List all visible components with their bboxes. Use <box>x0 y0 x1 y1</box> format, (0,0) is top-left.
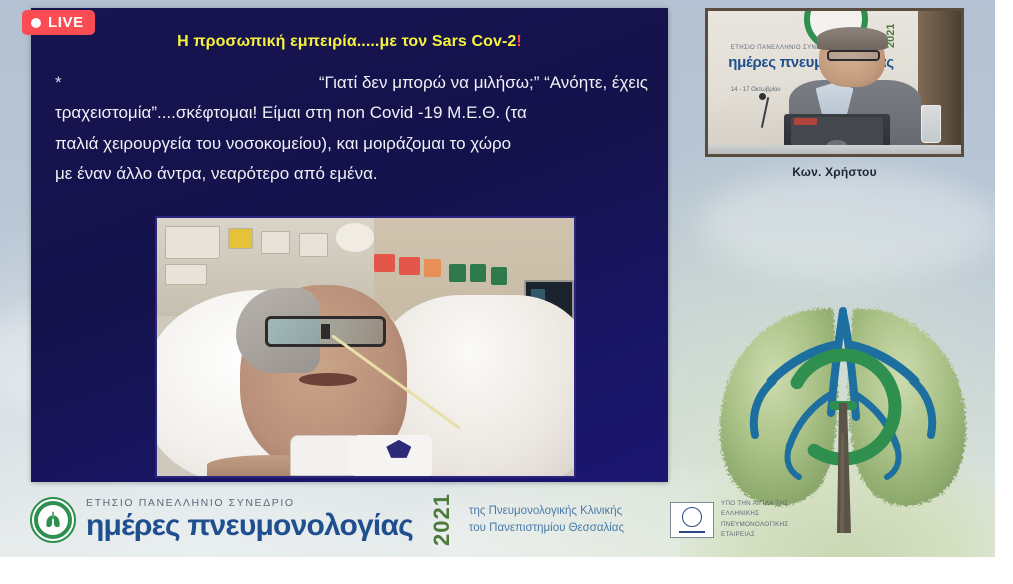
photo-outlet <box>374 254 395 272</box>
aegis-line-4: ΕΤΑΙΡΕΙΑΣ <box>721 530 789 540</box>
sponsor-banner: ΕΤΗΣΙΟ ΠΑΝΕΛΛΗΝΙΟ ΣΥΝΕΔΡΙΟ ημέρες πνευμο… <box>0 482 995 557</box>
webinar-viewport: LIVE Η προσωπική εμπειρία.....με τον Sar… <box>0 0 995 557</box>
photo-wall-panel <box>228 228 253 249</box>
live-status-badge: LIVE <box>22 10 95 35</box>
slide-title-text: Η προσωπική εμπειρία.....με τον Sars Cov… <box>177 33 516 50</box>
speaker-glasses <box>827 50 880 61</box>
slide-body-line-1: * “Γιατί δεν μπορώ να μιλήσω;” “Ανόητε, … <box>55 68 648 98</box>
photo-outlet <box>470 264 487 282</box>
right-margin <box>995 0 1013 584</box>
photo-outlet <box>449 264 466 282</box>
affiliation-line-2: του Πανεπιστημίου Θεσσαλίας <box>469 520 624 537</box>
podium-desk <box>708 145 961 154</box>
photo-wall-panel <box>299 233 328 256</box>
congress-lungs-logo <box>30 497 76 543</box>
slide-title: Η προσωπική εμπειρία.....με τον Sars Cov… <box>31 33 668 51</box>
photo-outlet <box>424 259 441 277</box>
congress-title: ημέρες πνευμονολογίας <box>86 511 413 541</box>
presentation-slide[interactable]: Η προσωπική εμπειρία.....με τον Sars Cov… <box>31 8 668 482</box>
lungs-icon <box>42 509 64 531</box>
slide-body: * “Γιατί δεν μπορώ να μιλήσω;” “Ανόητε, … <box>55 68 648 189</box>
photo-wall-panel <box>165 264 207 285</box>
congress-year: 2021 <box>429 493 455 546</box>
seal-ring <box>682 507 702 527</box>
photo-patient-mouth <box>299 373 357 386</box>
podium-microphone-head-icon <box>759 93 766 100</box>
live-dot-icon <box>31 18 41 28</box>
photo-wall-panel <box>261 231 290 254</box>
photo-iv-bag <box>336 223 374 251</box>
live-label: LIVE <box>48 15 84 30</box>
aegis-line-2: ΕΛΛΗΝΙΚΗΣ <box>721 509 789 519</box>
cloud-wisp <box>700 170 995 280</box>
backdrop-dates: 14 - 17 Οκτωβρίου <box>731 85 781 96</box>
aegis-block: ΥΠΟ ΤΗΝ ΑΙΓΙΔΑ ΤΗΣ ΕΛΛΗΝΙΚΗΣ ΠΝΕΥΜΟΝΟΛΟΓ… <box>670 499 789 540</box>
university-seal-icon <box>670 502 714 538</box>
affiliation-line-1: της Πνευμονολογικής Κλινικής <box>469 503 624 520</box>
congress-subtitle: ΕΤΗΣΙΟ ΠΑΝΕΛΛΗΝΙΟ ΣΥΝΕΔΡΙΟ <box>86 498 413 509</box>
slide-body-text-1: “Γιατί δεν μπορώ να μιλήσω;” “Ανόητε, έχ… <box>319 68 648 98</box>
seal-base <box>679 531 705 533</box>
aegis-line-1: ΥΠΟ ΤΗΝ ΑΙΓΙΔΑ ΤΗΣ <box>721 499 789 509</box>
water-glass <box>921 105 941 142</box>
speaker-hair <box>817 27 888 50</box>
photo-outlet <box>399 257 420 275</box>
photo-outlet <box>491 267 508 285</box>
speaker-name-label: Κων. Χρήστου <box>705 165 964 179</box>
aegis-text: ΥΠΟ ΤΗΝ ΑΙΓΙΔΑ ΤΗΣ ΕΛΛΗΝΙΚΗΣ ΠΝΕΥΜΟΝΟΛΟΓ… <box>721 499 789 540</box>
aegis-line-3: ΠΝΕΥΜΟΝΟΛΟΓΙΚΗΣ <box>721 520 789 530</box>
bullet-marker: * <box>55 68 62 98</box>
photo-patient-glasses <box>265 316 386 347</box>
laptop-sticker <box>794 118 817 125</box>
slide-title-exclamation: ! <box>516 33 521 50</box>
slide-body-line-3: παλιά χειρουργεία του νοσοκομείου), και … <box>55 129 648 159</box>
slide-body-line-2: τραχειστομία”....σκέφτομαι! Είμαι στη no… <box>55 98 648 128</box>
screen: LIVE Η προσωπική εμπειρία.....με τον Sar… <box>0 0 1013 584</box>
photo-wall-panel <box>165 226 219 260</box>
speaker-video-tile[interactable]: ΕΤΗΣΙΟ ΠΑΝΕΛΛΗΝΙΟ ΣΥΝΕΔΡΙΟ ημέρες πνευμο… <box>705 8 964 157</box>
slide-body-line-4: με έναν άλλο άντρα, νεαρότερο από εμένα. <box>55 159 648 189</box>
patient-photo <box>155 216 576 478</box>
congress-affiliation: της Πνευμονολογικής Κλινικής του Πανεπισ… <box>469 503 624 536</box>
congress-title-block: ΕΤΗΣΙΟ ΠΑΝΕΛΛΗΝΙΟ ΣΥΝΕΔΡΙΟ ημέρες πνευμο… <box>86 498 413 541</box>
bottom-margin <box>0 557 1013 584</box>
